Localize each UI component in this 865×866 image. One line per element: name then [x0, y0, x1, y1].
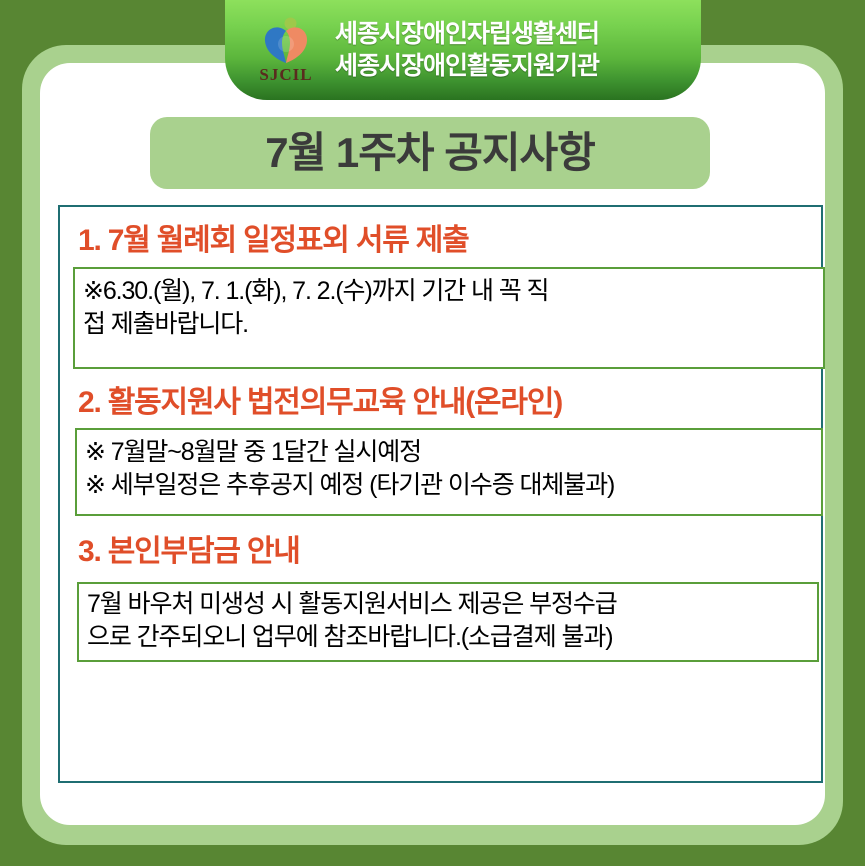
section-1-heading: 1. 7월 월례회 일정표외 서류 제출 [78, 219, 811, 263]
notice-section-3: 3. 본인부담금 안내 7월 바우처 미생성 시 활동지원서비스 제공은 부정수… [72, 530, 811, 662]
notice-poster: SJCIL 세종시장애인자립생활센터 세종시장애인활동지원기관 7월 1주차 공… [0, 0, 865, 866]
section-2-heading: 2. 활동지원사 법전의무교육 안내(온라인) [78, 381, 811, 425]
notice-section-2: 2. 활동지원사 법전의무교육 안내(온라인) ※ 7월말~8월말 중 1달간 … [72, 381, 811, 517]
section-3-text-box: 7월 바우처 미생성 시 활동지원서비스 제공은 부정수급 으로 간주되오니 업… [77, 582, 819, 662]
organization-logo: SJCIL [243, 17, 329, 83]
organization-name-line-2: 세종시장애인활동지원기관 [335, 50, 599, 82]
section-3-line-1: 7월 바우처 미생성 시 활동지원서비스 제공은 부정수급 [87, 588, 809, 621]
organization-name-line-1: 세종시장애인자립생활센터 [335, 18, 599, 50]
page-title: 7월 1주차 공지사항 [265, 132, 595, 174]
notice-content-box: 1. 7월 월례회 일정표외 서류 제출 ※6.30.(월), 7. 1.(화)… [58, 205, 823, 783]
section-3-heading: 3. 본인부담금 안내 [78, 530, 811, 574]
section-1-line-2: 접 제출바랍니다. [83, 308, 815, 341]
organization-header-banner: SJCIL 세종시장애인자립생활센터 세종시장애인활동지원기관 [225, 0, 701, 100]
section-2-text-box: ※ 7월말~8월말 중 1달간 실시예정 ※ 세부일정은 추후공지 예정 (타기… [75, 428, 823, 516]
section-3-line-2: 으로 간주되오니 업무에 참조바랍니다.(소급결제 불과) [87, 621, 809, 654]
section-2-line-2: ※ 세부일정은 추후공지 예정 (타기관 이수증 대체불과) [85, 469, 813, 502]
page-title-badge: 7월 1주차 공지사항 [150, 117, 710, 189]
section-1-line-1: ※6.30.(월), 7. 1.(화), 7. 2.(수)까지 기간 내 꼭 직 [83, 275, 815, 308]
logo-wordmark: SJCIL [259, 66, 312, 83]
section-1-text-box: ※6.30.(월), 7. 1.(화), 7. 2.(수)까지 기간 내 꼭 직… [73, 267, 825, 369]
notice-section-1: 1. 7월 월례회 일정표외 서류 제출 ※6.30.(월), 7. 1.(화)… [72, 219, 811, 369]
heart-person-logo-icon [260, 17, 312, 65]
organization-names: 세종시장애인자립생활센터 세종시장애인활동지원기관 [335, 18, 599, 82]
section-2-line-1: ※ 7월말~8월말 중 1달간 실시예정 [85, 436, 813, 469]
